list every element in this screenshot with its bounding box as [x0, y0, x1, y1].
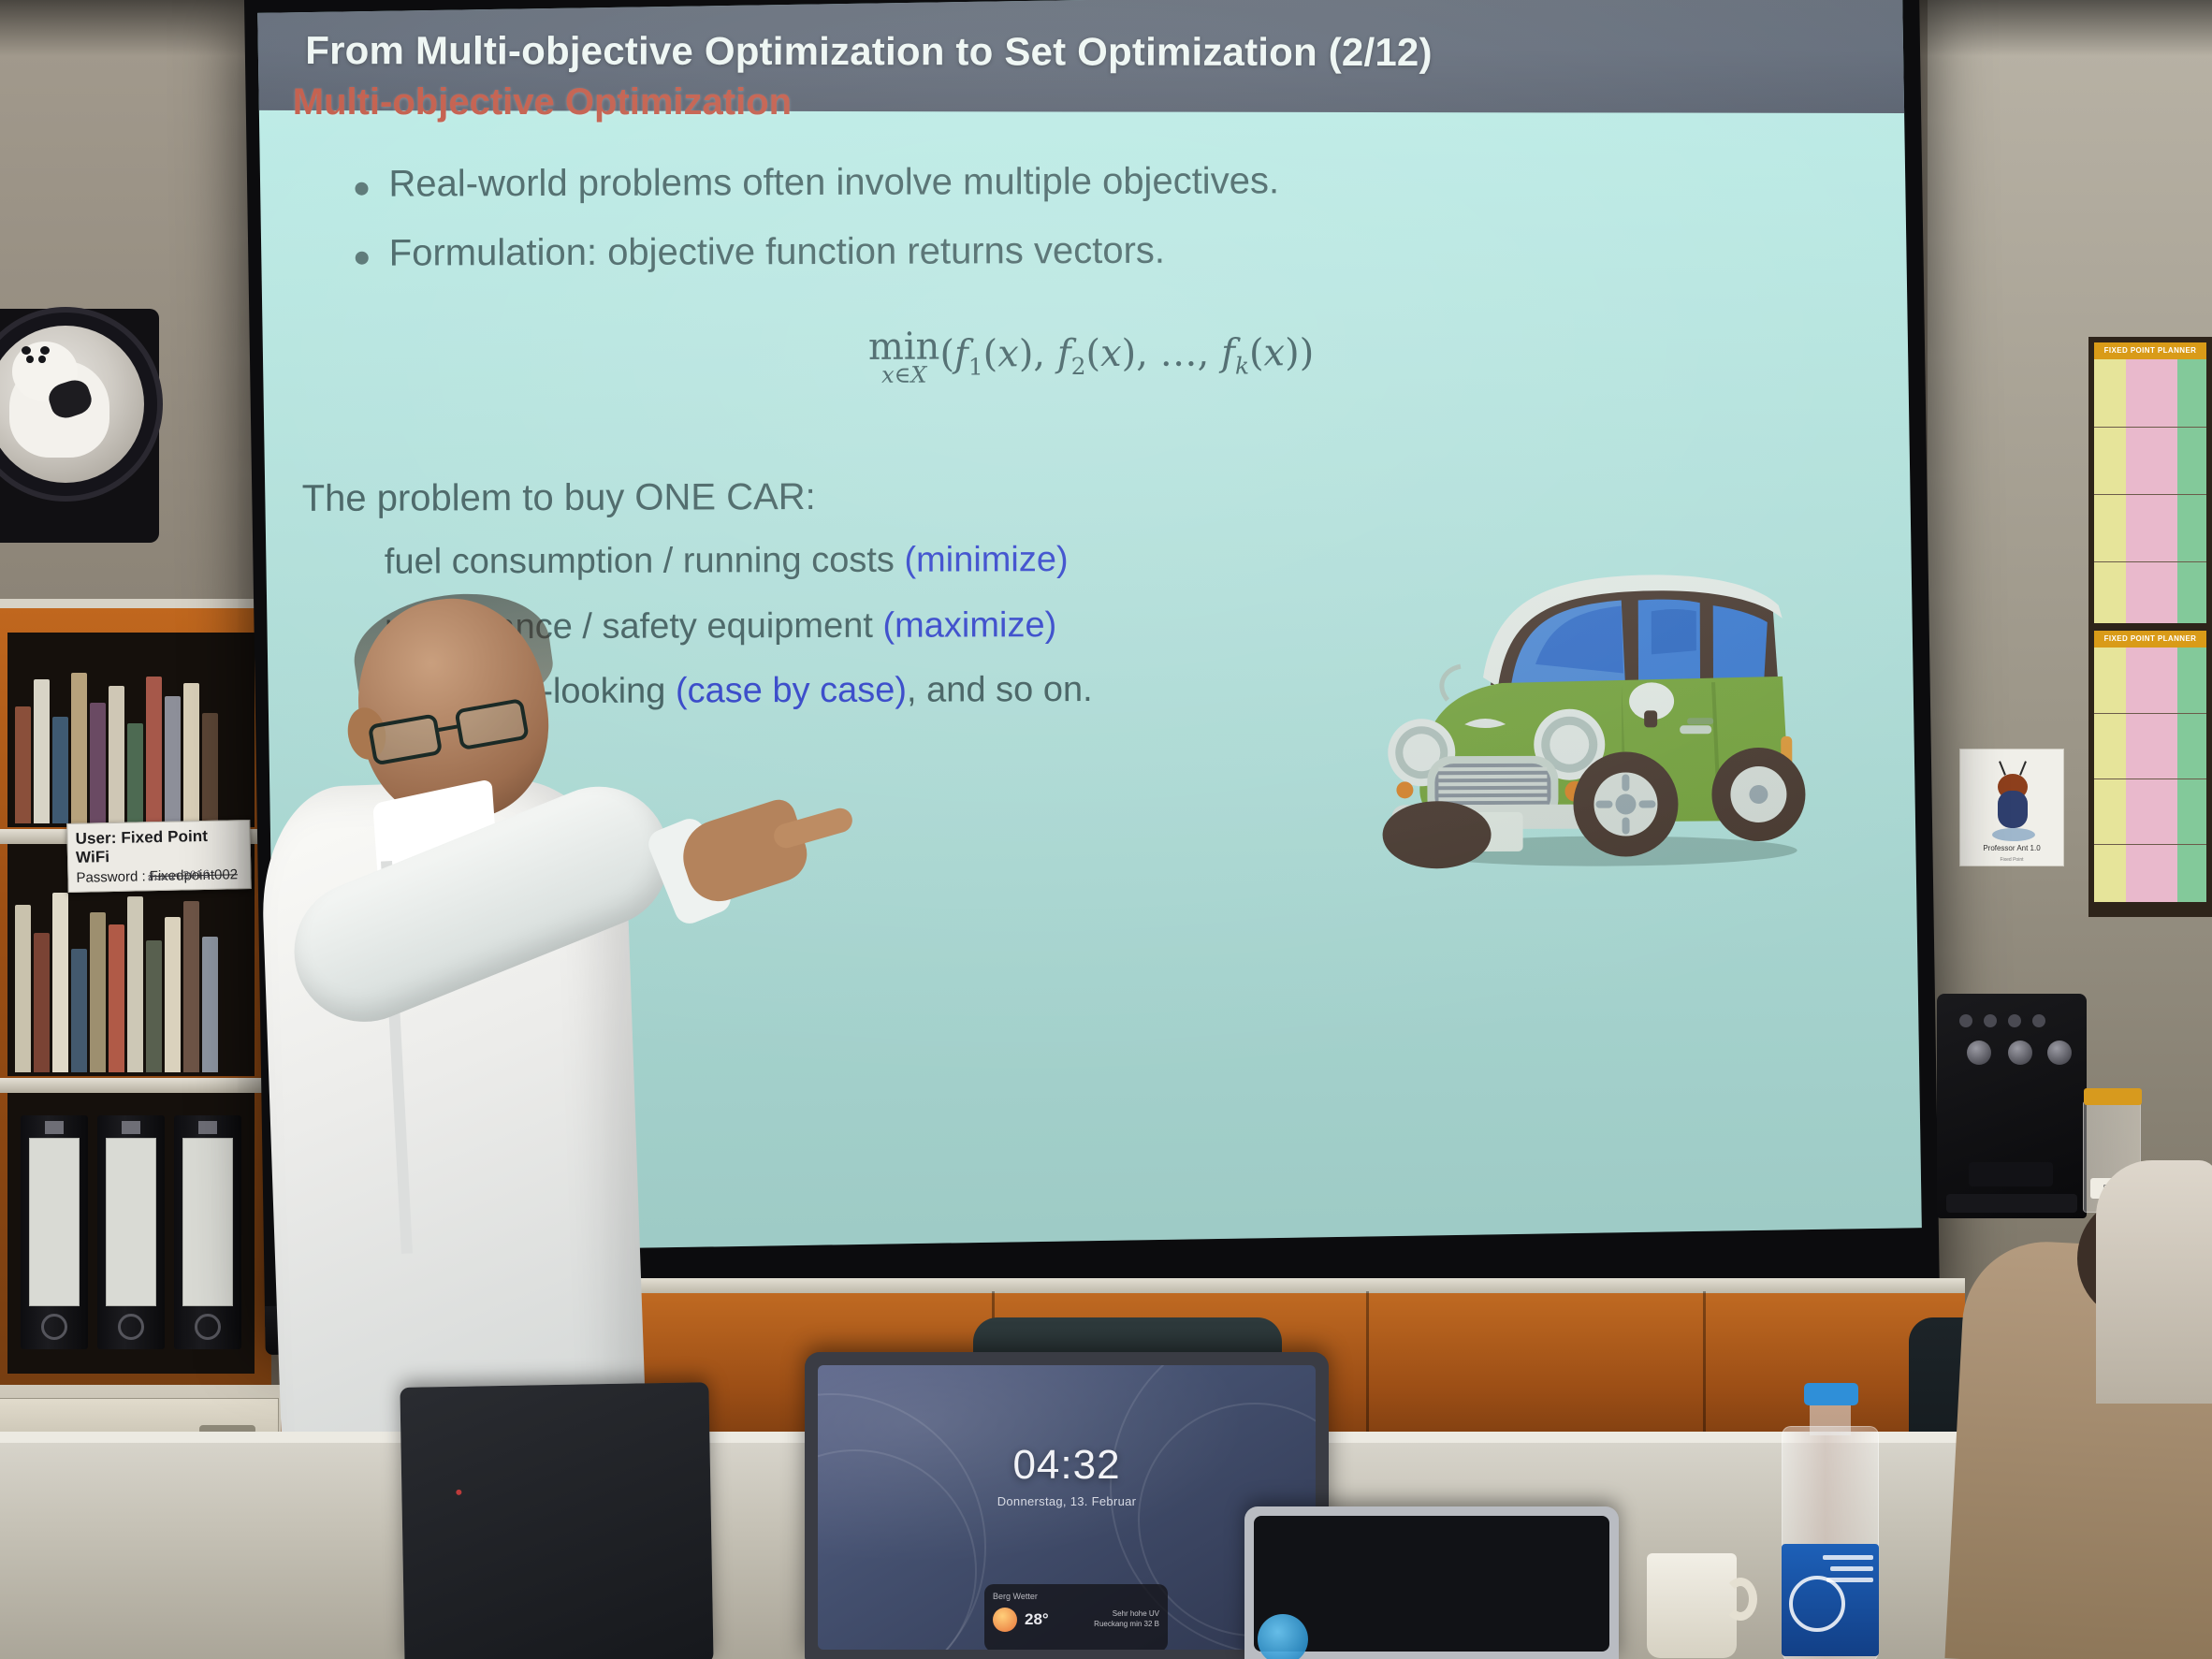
tablet-device[interactable] — [1244, 1506, 1619, 1659]
poster-brand: Fixed Point — [1960, 857, 2063, 863]
car-criterion-2-tag: (maximize) — [882, 605, 1056, 646]
bottle-cap — [1804, 1383, 1858, 1405]
bottle-label — [1782, 1544, 1879, 1656]
sun-icon — [993, 1608, 1017, 1632]
green-car-illustration — [1371, 553, 1812, 873]
coffee-machine[interactable] — [1937, 994, 2087, 1218]
bullet-dot-icon — [356, 252, 369, 265]
water-bottle — [1776, 1383, 1885, 1659]
closed-laptop-left[interactable] — [400, 1382, 713, 1659]
weather-widget-title: Berg Wetter — [993, 1591, 1159, 1602]
formula-paren-close: ) — [1300, 331, 1315, 374]
laptop-lock-screen[interactable]: 04:32 Donnerstag, 13. Februar Berg Wette… — [818, 1365, 1316, 1650]
slide-subtitle: Multi-objective Optimization — [293, 81, 792, 124]
lock-screen-clock: 04:32 — [818, 1442, 1316, 1489]
weather-temperature: 28° — [1025, 1609, 1049, 1631]
bullet-dot-icon — [355, 182, 368, 196]
coffee-mug — [1647, 1553, 1737, 1658]
tablet-screen[interactable] — [1254, 1516, 1609, 1652]
fixed-point-planner-board: FIXED POINT PLANNER FIXED POINT PLANNER — [2088, 337, 2212, 917]
bullet-text: Real-world problems often involve multip… — [388, 158, 1279, 206]
tablet-app-icon[interactable] — [1258, 1614, 1308, 1659]
seated-attendee-2 — [2096, 1160, 2212, 1404]
car-criterion-1-text: fuel consumption / running costs — [385, 541, 905, 582]
min-operator-symbol: min — [868, 328, 940, 366]
bullet-item: Real-world problems often involve multip… — [355, 156, 1880, 207]
lock-screen-date: Donnerstag, 13. Februar — [818, 1494, 1316, 1508]
professor-ant-poster: Professor Ant 1.0 Fixed Point — [1959, 749, 2064, 866]
bullet-text: Formulation: objective function returns … — [389, 228, 1165, 276]
wifi-password-label: Password : — [76, 868, 150, 886]
formula-paren-open: ( — [939, 332, 954, 375]
planner-header: FIXED POINT PLANNER — [2094, 342, 2206, 359]
car-problem-heading: The problem to buy ONE CAR: — [302, 473, 1882, 520]
weather-line-2: Rueckang min 32 B — [1056, 1620, 1159, 1630]
weather-widget[interactable]: Berg Wetter 28° Sehr hohe UV Rueckang mi… — [984, 1584, 1168, 1650]
min-operator: min x∈X — [868, 328, 940, 386]
binder — [21, 1115, 88, 1349]
panda-image — [0, 326, 144, 483]
bullet-item: Formulation: objective function returns … — [356, 226, 1881, 276]
weather-line-1: Sehr hohe UV — [1056, 1609, 1159, 1620]
planner-header-2: FIXED POINT PLANNER — [2094, 631, 2206, 648]
car-criterion-3-suffix: , and so on. — [907, 670, 1093, 710]
panda-picture-frame — [0, 309, 159, 543]
car-criterion-1-tag: (minimize) — [904, 540, 1068, 580]
objective-formula: min x∈X (f1(x), f2(x), …, fk(x)) — [301, 325, 1881, 388]
poster-title: Professor Ant 1.0 — [1960, 844, 2063, 852]
classroom-lecture-photo: User: Fixed Point WiFi Password : Fixedp… — [0, 0, 2212, 1659]
slide-header-title: From Multi-objective Optimization to Set… — [305, 28, 1432, 75]
